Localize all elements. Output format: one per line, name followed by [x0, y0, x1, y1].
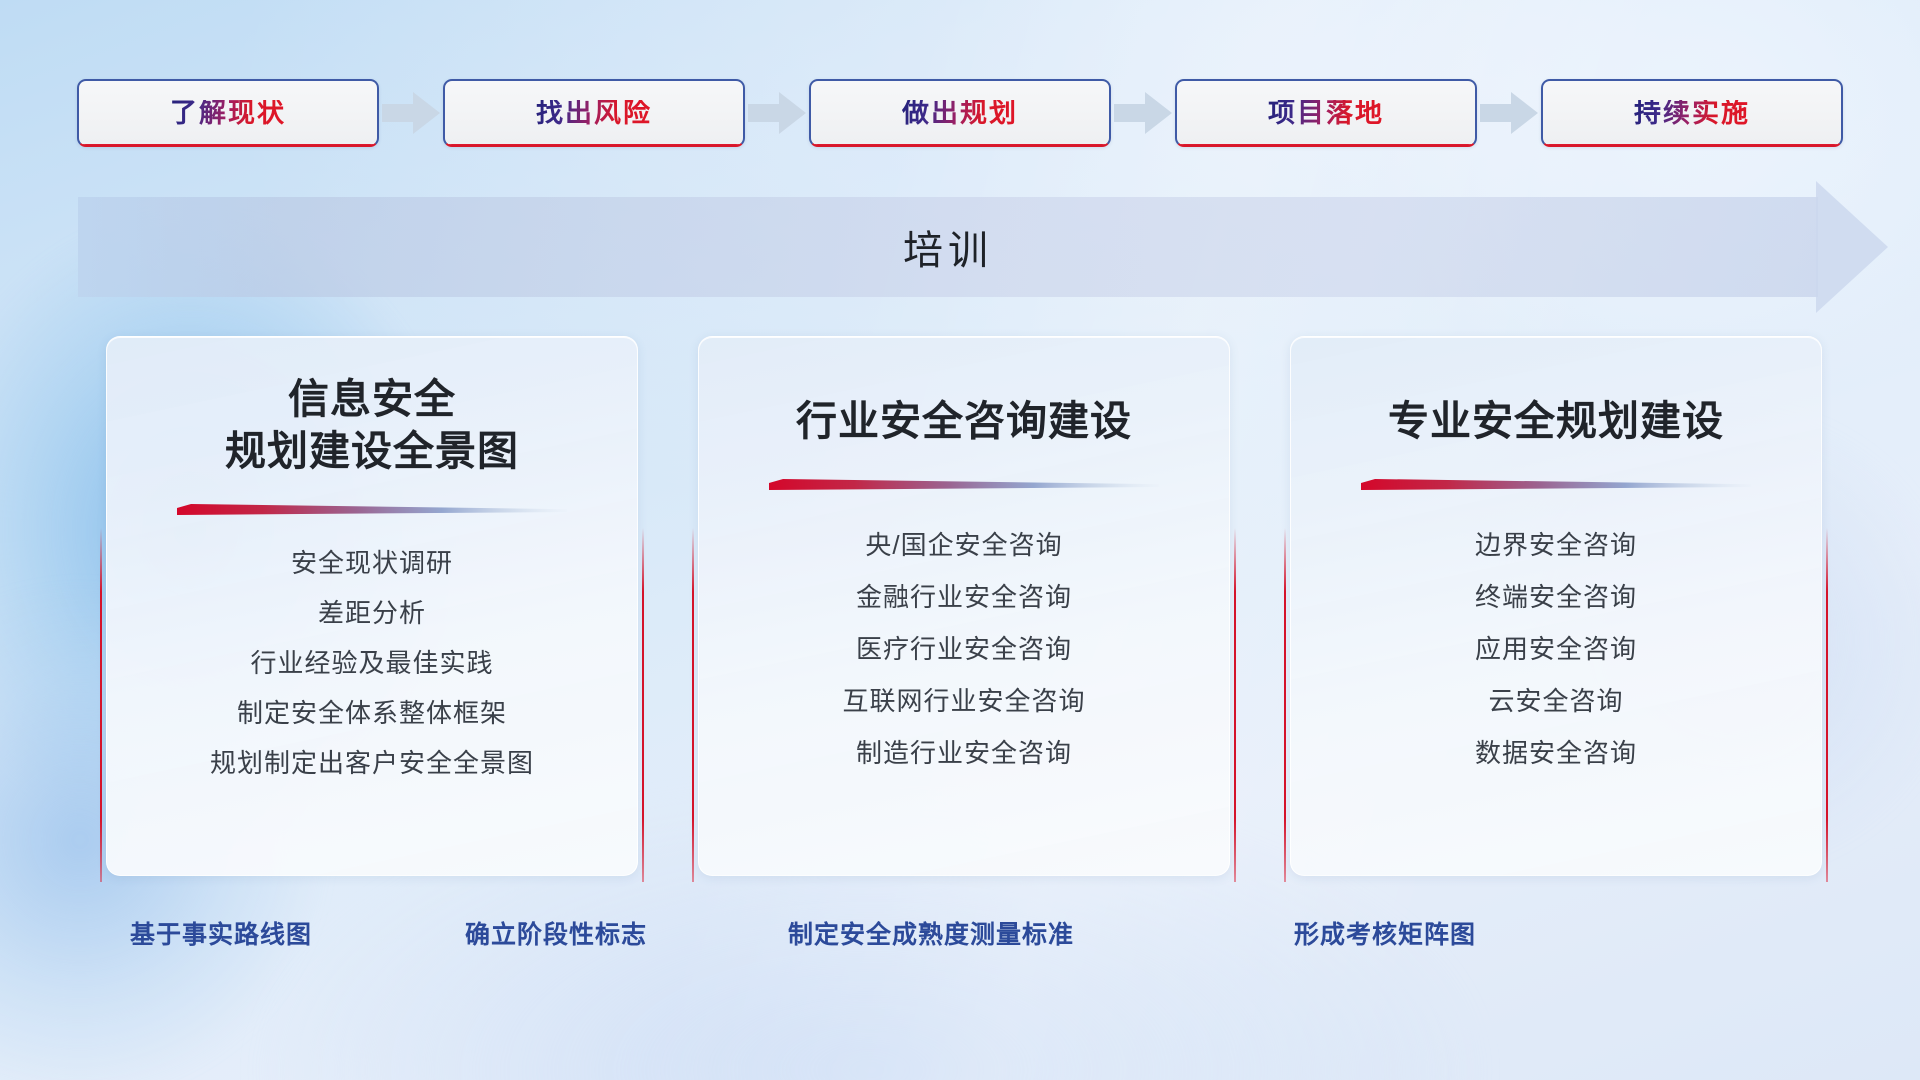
- bottom-caption-2: 确立阶段性标志: [465, 915, 647, 951]
- step-pill-label: 持续实施: [1634, 100, 1750, 127]
- card-list-item: 应用安全咨询: [1321, 623, 1791, 675]
- card-list-item: 规划制定出客户安全全景图: [137, 738, 607, 788]
- gradient-divider-icon: [769, 479, 1159, 493]
- gradient-divider-icon: [1361, 479, 1751, 493]
- process-step-row: 了解现状 找出风险 做出规划 项目落地 持续实施: [0, 78, 1920, 148]
- card-list-item: 医疗行业安全咨询: [729, 623, 1199, 675]
- bottom-caption-4: 形成考核矩阵图: [1294, 915, 1476, 951]
- card-wrapper-1: 信息安全 规划建设全景图: [106, 336, 638, 876]
- step-pill-5[interactable]: 持续实施: [1541, 79, 1843, 147]
- training-banner: 培训: [78, 197, 1888, 297]
- bottom-caption-row: 基于事实路线图 确立阶段性标志 制定安全成熟度测量标准 形成考核矩阵图: [0, 915, 1920, 959]
- step-pill-2[interactable]: 找出风险: [443, 79, 745, 147]
- card-list-item: 终端安全咨询: [1321, 571, 1791, 623]
- solution-card-3[interactable]: 专业安全规划建设: [1290, 336, 1822, 876]
- step-pill-label: 项目落地: [1268, 100, 1384, 127]
- card-list-item: 安全现状调研: [137, 538, 607, 588]
- card-list-item: 云安全咨询: [1321, 675, 1791, 727]
- card-wrapper-2: 行业安全咨询建设: [698, 336, 1230, 876]
- card-item-list: 安全现状调研 差距分析 行业经验及最佳实践 制定安全体系整体框架 规划制定出客户…: [137, 538, 607, 788]
- card-item-list: 央/国企安全咨询 金融行业安全咨询 医疗行业安全咨询 互联网行业安全咨询 制造行…: [729, 519, 1199, 779]
- card-list-item: 差距分析: [137, 588, 607, 638]
- step-arrow-right-icon-4: [1477, 90, 1541, 136]
- banner-title: 培训: [78, 197, 1818, 297]
- banner-arrow-right-icon: [1816, 181, 1888, 313]
- step-arrow-right-icon-1: [379, 90, 443, 136]
- step-pill-label: 找出风险: [536, 100, 652, 127]
- card-list-item: 制造行业安全咨询: [729, 727, 1199, 779]
- card-wrapper-3: 专业安全规划建设: [1290, 336, 1822, 876]
- card-list-item: 互联网行业安全咨询: [729, 675, 1199, 727]
- card-list-item: 金融行业安全咨询: [729, 571, 1199, 623]
- card-list-item: 央/国企安全咨询: [729, 519, 1199, 571]
- gradient-divider-icon: [177, 504, 567, 518]
- step-pill-4[interactable]: 项目落地: [1175, 79, 1477, 147]
- card-list-item: 数据安全咨询: [1321, 727, 1791, 779]
- step-pill-1[interactable]: 了解现状: [77, 79, 379, 147]
- solution-card-2[interactable]: 行业安全咨询建设: [698, 336, 1230, 876]
- step-pill-label: 了解现状: [170, 100, 286, 127]
- card-list-item: 制定安全体系整体框架: [137, 688, 607, 738]
- solution-cards-row: 信息安全 规划建设全景图: [106, 336, 1822, 876]
- step-arrow-right-icon-2: [745, 90, 809, 136]
- solution-card-1[interactable]: 信息安全 规划建设全景图: [106, 336, 638, 876]
- card-title: 专业安全规划建设: [1388, 395, 1724, 447]
- card-title: 行业安全咨询建设: [796, 395, 1132, 447]
- bottom-caption-1: 基于事实路线图: [130, 915, 312, 951]
- card-list-item: 行业经验及最佳实践: [137, 638, 607, 688]
- card-item-list: 边界安全咨询 终端安全咨询 应用安全咨询 云安全咨询 数据安全咨询: [1321, 519, 1791, 779]
- step-arrow-right-icon-3: [1111, 90, 1175, 136]
- card-list-item: 边界安全咨询: [1321, 519, 1791, 571]
- card-title: 信息安全 规划建设全景图: [225, 373, 519, 478]
- step-pill-label: 做出规划: [902, 100, 1018, 127]
- step-pill-3[interactable]: 做出规划: [809, 79, 1111, 147]
- bottom-caption-3: 制定安全成熟度测量标准: [788, 915, 1074, 951]
